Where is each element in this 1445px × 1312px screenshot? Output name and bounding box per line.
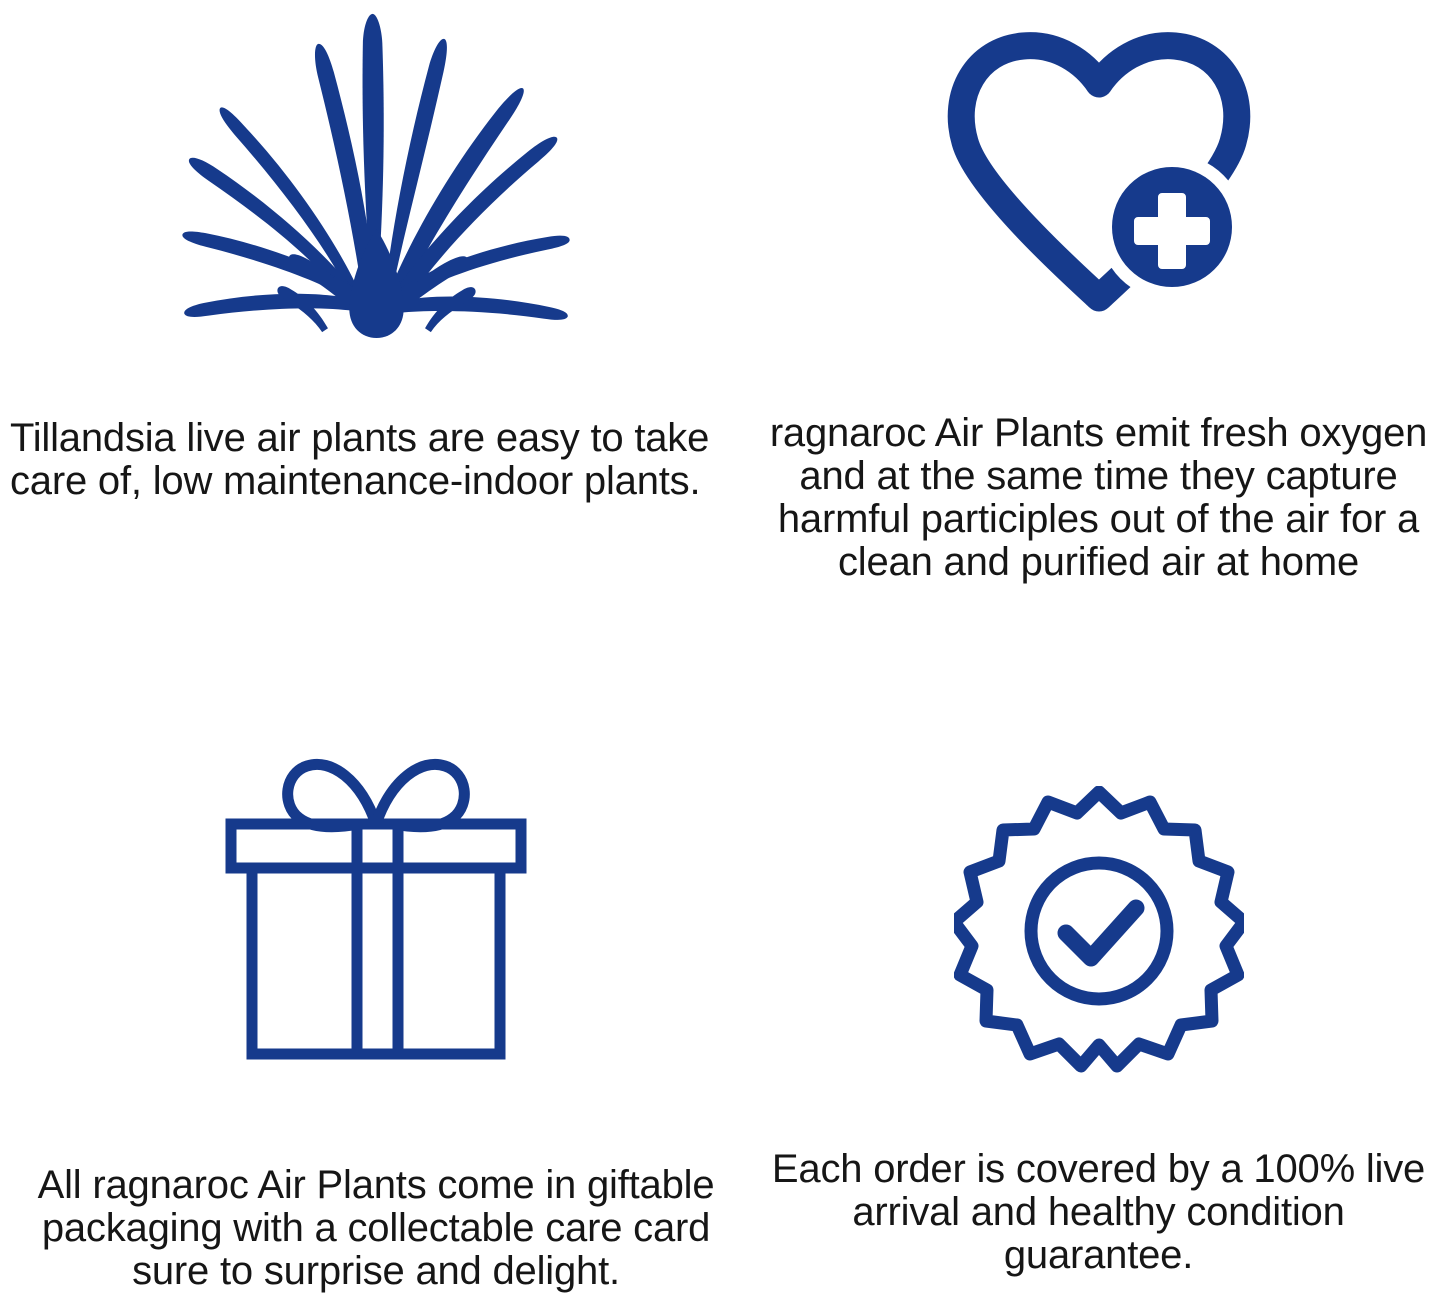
feature-card-giftable-packaging: All ragnaroc Air Plants come in giftable… [0, 656, 752, 1312]
feature-card-easy-care: Tillandsia live air plants are easy to t… [0, 0, 752, 656]
gift-box-icon [221, 752, 531, 1064]
feature-text-air-purifying: ragnaroc Air Plants emit fresh oxygen an… [754, 412, 1444, 584]
feature-text-live-arrival-guarantee: Each order is covered by a 100% live arr… [763, 1148, 1435, 1277]
feature-text-giftable-packaging: All ragnaroc Air Plants come in giftable… [18, 1164, 734, 1293]
feature-card-air-purifying: ragnaroc Air Plants emit fresh oxygen an… [752, 0, 1445, 656]
air-plant-icon [179, 8, 574, 338]
guarantee-badge-icon [954, 786, 1244, 1076]
feature-text-easy-care: Tillandsia live air plants are easy to t… [4, 417, 748, 503]
feature-grid: Tillandsia live air plants are easy to t… [0, 0, 1445, 1312]
feature-card-live-arrival-guarantee: Each order is covered by a 100% live arr… [752, 656, 1445, 1312]
heart-plus-icon [939, 22, 1259, 322]
